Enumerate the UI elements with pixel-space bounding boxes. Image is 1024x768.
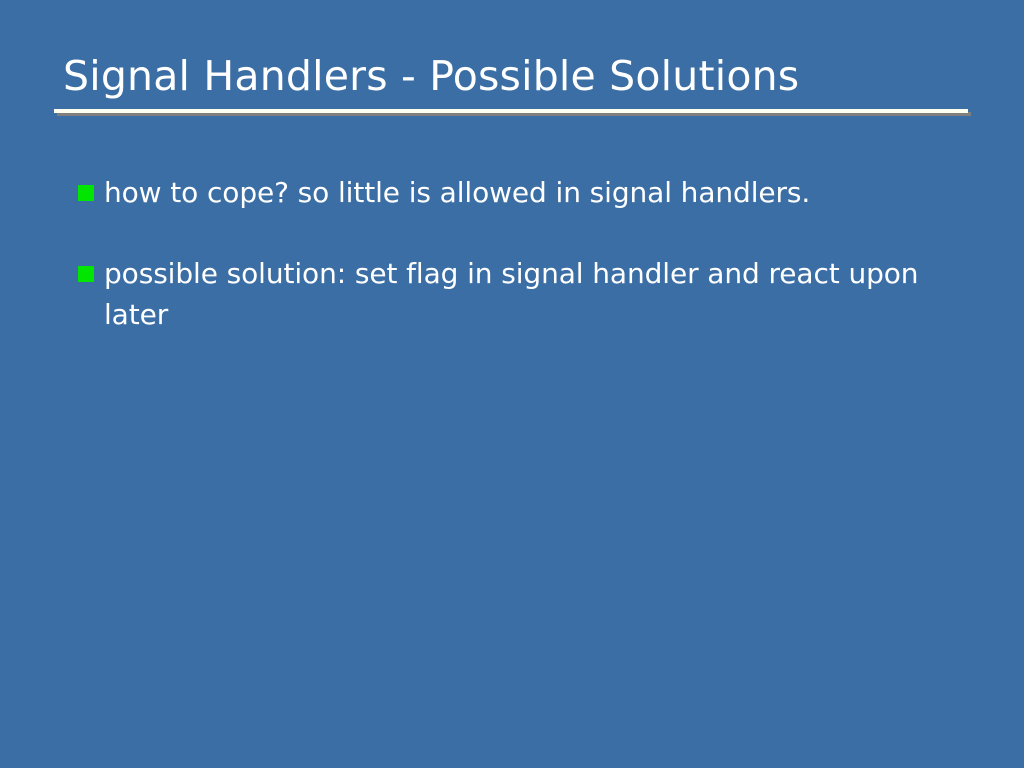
list-item-label: how to cope? so little is allowed in sig…	[104, 172, 924, 213]
title-underline-line	[54, 109, 968, 113]
slide-body-bullet-list: how to cope? so little is allowed in sig…	[78, 172, 958, 375]
list-item: how to cope? so little is allowed in sig…	[78, 172, 958, 213]
page-title: Signal Handlers - Possible Solutions	[54, 50, 970, 102]
square-bullet-icon	[78, 266, 94, 282]
title-underline	[54, 109, 970, 119]
list-item: possible solution: set flag in signal ha…	[78, 253, 958, 335]
list-item-label: possible solution: set flag in signal ha…	[104, 253, 924, 335]
square-bullet-icon	[78, 185, 94, 201]
presentation-slide: Signal Handlers - Possible Solutions how…	[0, 0, 1024, 768]
slide-title-block: Signal Handlers - Possible Solutions	[54, 50, 970, 119]
